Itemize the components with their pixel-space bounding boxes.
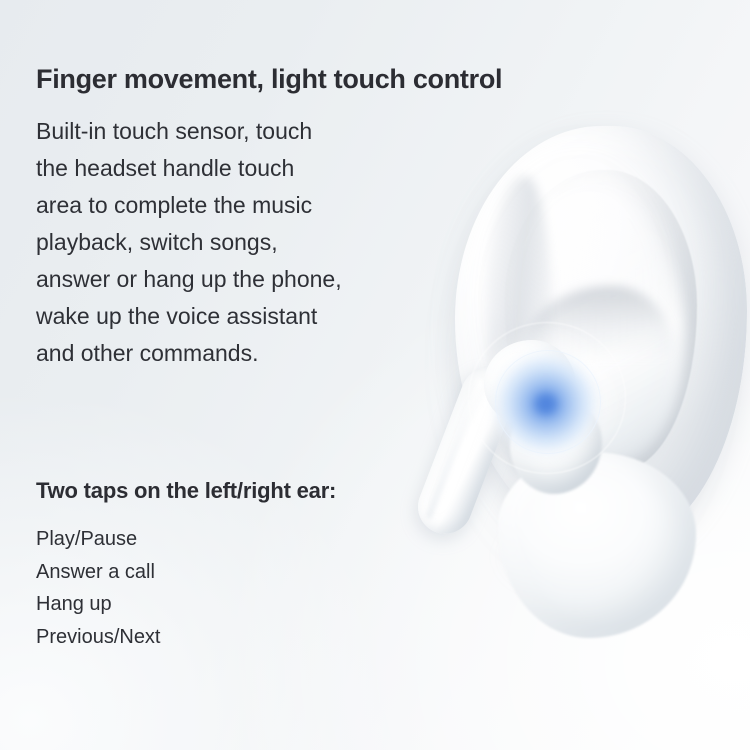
product-feature-poster: Finger movement, light touch control Bui… — [0, 0, 750, 750]
description-line: answer or hang up the phone, — [36, 261, 436, 298]
feature-description: Built-in touch sensor, touch the headset… — [36, 113, 436, 372]
description-line: area to complete the music — [36, 187, 436, 224]
page-title: Finger movement, light touch control — [36, 64, 502, 95]
list-item: Previous/Next — [36, 621, 161, 654]
list-item: Answer a call — [36, 556, 161, 589]
description-line: playback, switch songs, — [36, 224, 436, 261]
description-line: and other commands. — [36, 335, 436, 372]
list-item: Hang up — [36, 588, 161, 621]
gesture-function-list: Play/Pause Answer a call Hang up Previou… — [36, 523, 161, 653]
description-line: wake up the voice assistant — [36, 298, 436, 335]
list-item: Play/Pause — [36, 523, 161, 556]
poster-text-content: Finger movement, light touch control Bui… — [0, 0, 750, 750]
description-line: Built-in touch sensor, touch — [36, 113, 436, 150]
description-line: the headset handle touch — [36, 150, 436, 187]
gesture-subheading: Two taps on the left/right ear: — [36, 478, 336, 504]
